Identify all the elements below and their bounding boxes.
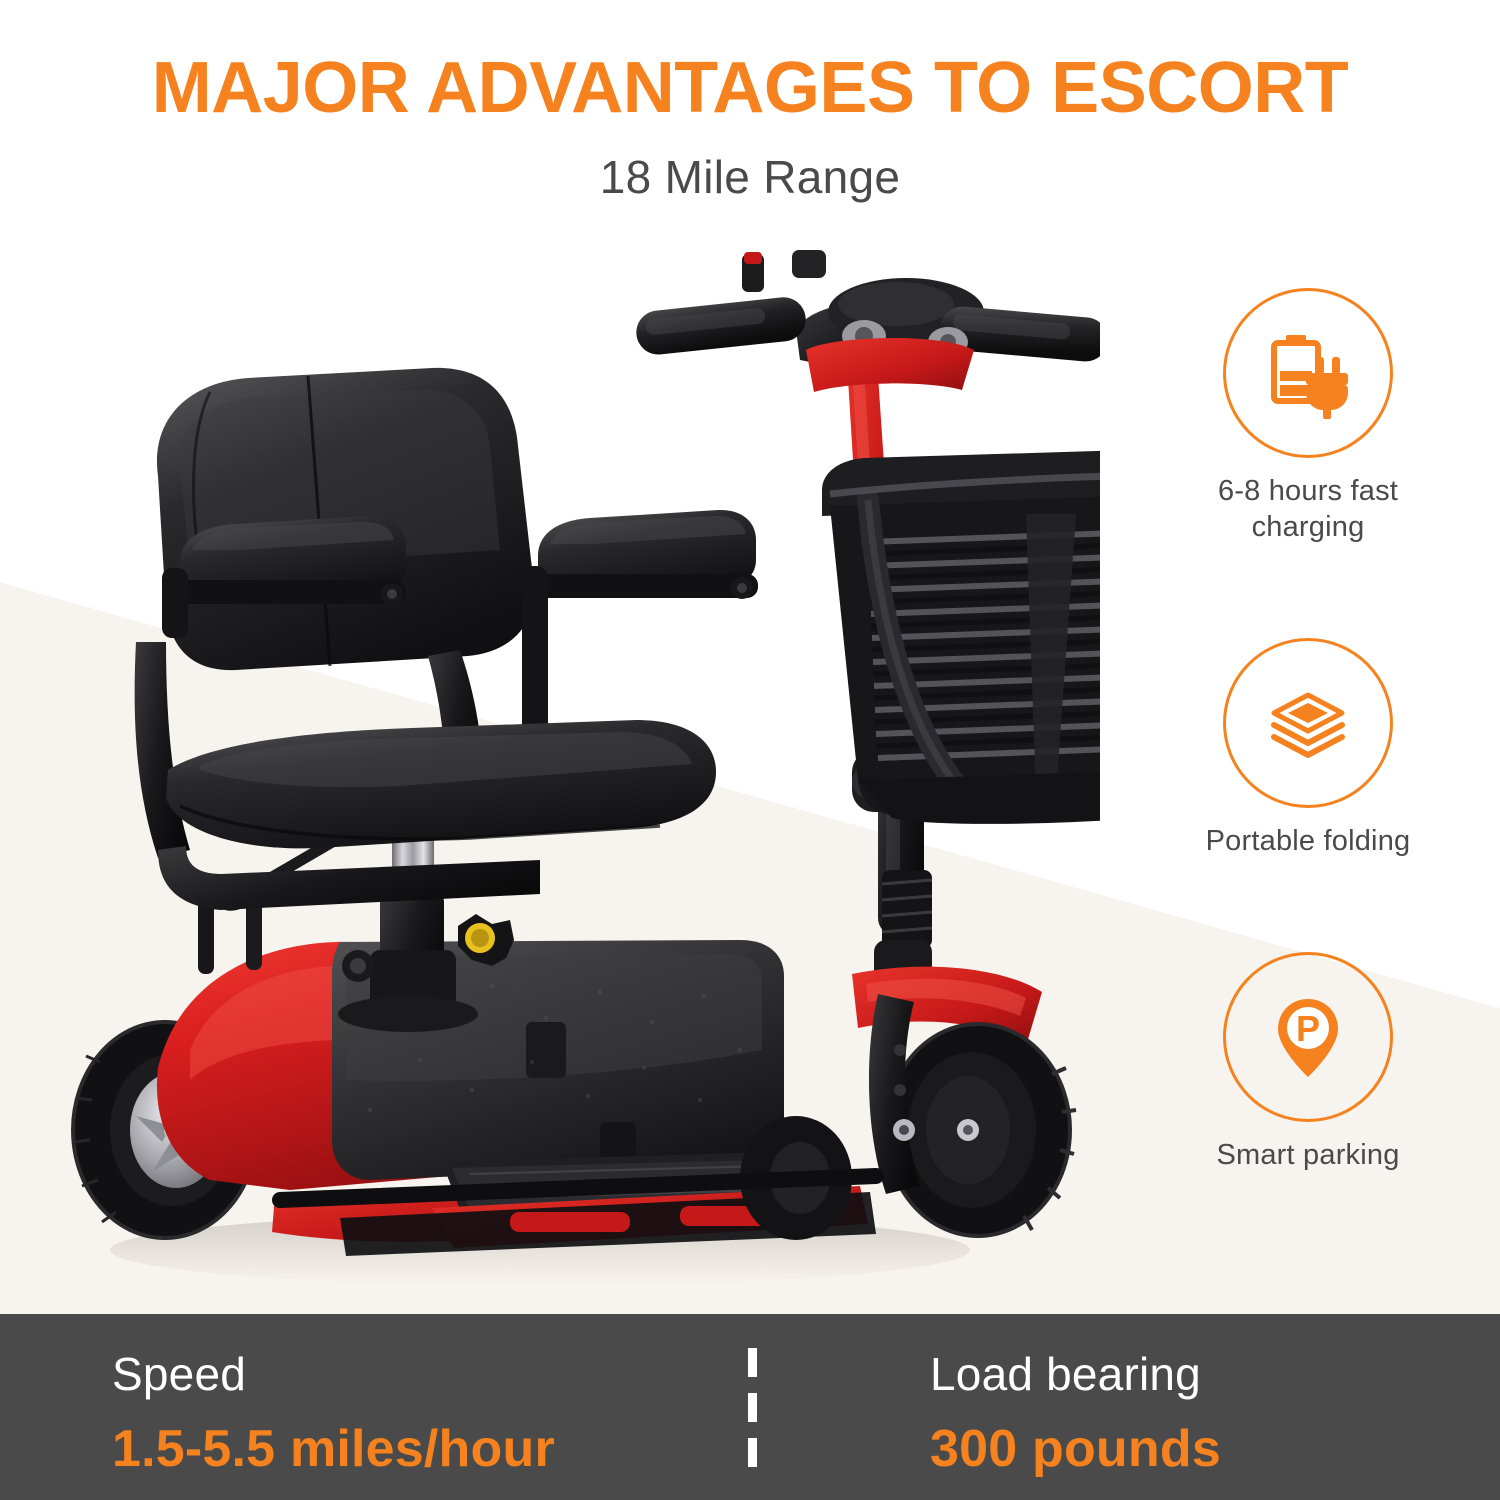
feature-label: Portable folding: [1158, 824, 1458, 860]
feature-icon-circle: [1223, 288, 1393, 458]
infographic-page: MAJOR ADVANTAGES TO ESCORT 18 Mile Range: [0, 0, 1500, 1500]
feature-item-smart-parking: P Smart parking: [1158, 952, 1458, 1174]
feature-list: 6-8 hours fast charging Portable folding: [1158, 288, 1458, 1174]
battery-charging-icon: [1260, 325, 1356, 421]
feature-item-fast-charging: 6-8 hours fast charging: [1158, 288, 1458, 546]
feature-item-portable-folding: Portable folding: [1158, 638, 1458, 860]
armrest-right: [522, 510, 758, 756]
product-image-mobility-scooter: [40, 250, 1100, 1310]
stat-label: Speed: [112, 1350, 555, 1398]
layers-folding-icon: [1260, 675, 1356, 771]
feature-label: Smart parking: [1158, 1138, 1458, 1174]
header: MAJOR ADVANTAGES TO ESCORT 18 Mile Range: [0, 0, 1500, 204]
control-knob: [792, 250, 826, 278]
stats-bar: Speed 1.5-5.5 miles/hour Load bearing 30…: [0, 1314, 1500, 1500]
page-title: MAJOR ADVANTAGES TO ESCORT: [0, 0, 1500, 124]
handlebar: [634, 250, 1100, 392]
stat-value: 300 pounds: [930, 1422, 1221, 1477]
page-subtitle: 18 Mile Range: [0, 124, 1500, 204]
feature-icon-circle: [1223, 638, 1393, 808]
stat-load-bearing: Load bearing 300 pounds: [930, 1350, 1221, 1477]
feature-label: 6-8 hours fast charging: [1158, 474, 1458, 546]
parking-pin-icon: P: [1260, 989, 1356, 1085]
seat-assembly: [135, 368, 758, 910]
handlebar-grip-left: [634, 295, 808, 357]
svg-text:P: P: [1296, 1008, 1320, 1049]
stats-divider: [748, 1348, 757, 1468]
tiller-bellows: [882, 870, 932, 948]
front-wheel: [869, 994, 1076, 1236]
stat-value: 1.5-5.5 miles/hour: [112, 1422, 555, 1477]
basket: [822, 448, 1100, 824]
feature-icon-circle: P: [1223, 952, 1393, 1122]
stat-label: Load bearing: [930, 1350, 1221, 1398]
stat-speed: Speed 1.5-5.5 miles/hour: [112, 1350, 555, 1477]
